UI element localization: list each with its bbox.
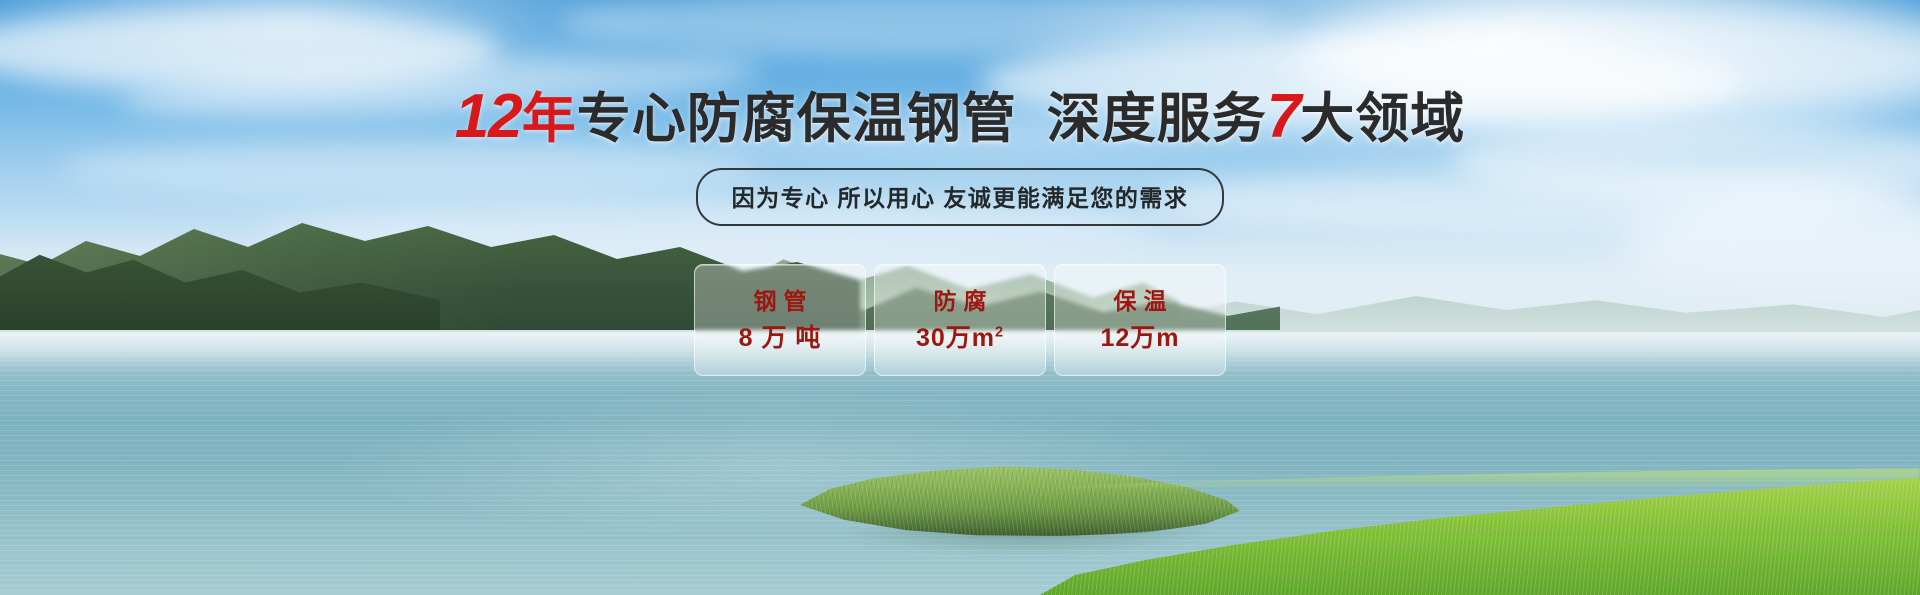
stat-cards-row: 钢管 8 万 吨 防腐 30万m2 保温 12万m	[0, 264, 1920, 376]
stat-card-steel-pipe[interactable]: 钢管 8 万 吨	[694, 264, 866, 376]
subtitle-pill: 因为专心 所以用心 友诚更能满足您的需求	[696, 168, 1225, 226]
headline-part-one: 专心防腐保温钢管	[577, 89, 1017, 149]
stat-card-label: 防腐	[927, 290, 994, 313]
stat-value-base: 8 万 吨	[739, 324, 822, 352]
headline-part-three: 大领域	[1300, 89, 1465, 149]
stat-card-value: 30万m2	[916, 326, 1004, 351]
headline-years-unit: 年	[522, 89, 577, 149]
stat-value-base: 30万m	[916, 324, 995, 352]
stat-value-base: 12万m	[1100, 324, 1179, 352]
subtitle-container: 因为专心 所以用心 友诚更能满足您的需求	[0, 168, 1920, 226]
stat-card-value: 12万m	[1100, 326, 1179, 351]
stat-card-label: 保温	[1107, 290, 1174, 313]
stat-card-anticorrosion[interactable]: 防腐 30万m2	[874, 264, 1046, 376]
banner-headline: 12年专心防腐保温钢管深度服务7大领域	[0, 86, 1920, 148]
headline-part-two: 深度服务	[1047, 89, 1267, 149]
headline-fields-number: 7	[1267, 82, 1300, 151]
hero-banner: 12年专心防腐保温钢管深度服务7大领域 因为专心 所以用心 友诚更能满足您的需求…	[0, 0, 1920, 595]
stat-card-value: 8 万 吨	[739, 326, 822, 351]
headline-years-number: 12	[455, 82, 522, 151]
stat-card-insulation[interactable]: 保温 12万m	[1054, 264, 1226, 376]
stat-value-superscript: 2	[995, 324, 1004, 340]
stat-card-label: 钢管	[747, 290, 814, 313]
